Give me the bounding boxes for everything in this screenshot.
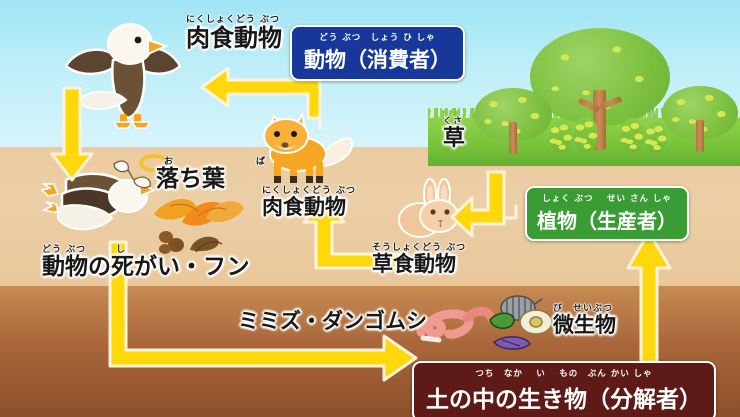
badge-plant-producer: しょく ぶつ せい さん しゃ 植物（生産者） (525, 186, 689, 241)
ecosystem-cycle-diagram: にくしょくどう ぶつ 肉食動物 お ば 落ち葉 どう ぶつ し 動物の死がい・フ… (0, 0, 740, 417)
label-herbivore-text: 草食動物 (372, 252, 456, 276)
label-herbivore: そうしょくどう ぶつ 草食動物 (372, 244, 466, 275)
label-grass-text: 草 (443, 126, 465, 151)
label-soil-creatures: ミミズ・ダンゴムシ (238, 311, 427, 332)
tree-left-small (474, 88, 552, 152)
badge-animal-consumer: どう ぶつ しょう ひ しゃ 動物（消費者） (290, 25, 465, 81)
label-microbes: び せいぶつ 微生物 (553, 305, 616, 336)
label-carnivore-top: にくしょくどう ぶつ 肉食動物 (186, 16, 282, 50)
arrow-eagle-to-carcass (52, 88, 96, 184)
shrub-c (620, 118, 644, 154)
arrow-grass-to-rabbit (452, 172, 524, 242)
arrow-soil-to-plants (624, 228, 674, 364)
badge-animal-consumer-text: 動物（消費者） (304, 48, 451, 72)
label-carnivore-mid-text: 肉食動物 (262, 195, 346, 219)
label-soil-creatures-text: ミミズ・ダンゴムシ (238, 309, 427, 333)
label-fallen-leaves-text: 落ち葉 (156, 166, 225, 192)
badge-soil-decomposer: つち なか い もの ぶん かい しゃ 土の中の生き物（分解者） (412, 361, 716, 417)
badge-plant-producer-text: 植物（生産者） (537, 209, 677, 233)
label-microbes-text: 微生物 (553, 313, 616, 337)
label-carnivore-mid: にくしょくどう ぶつ 肉食動物 (262, 187, 356, 218)
earthworm-illustration (415, 296, 495, 348)
label-carcass-dung-text: 動物の死がい・フン (42, 254, 249, 280)
label-grass: くさ 草 (443, 118, 465, 150)
shrub-a (549, 120, 573, 154)
tree-right-small (662, 86, 738, 152)
shrub-d (645, 122, 667, 154)
badge-animal-consumer-ruby: どう ぶつ しょう ひ しゃ (304, 31, 451, 43)
label-carnivore-top-text: 肉食動物 (186, 24, 282, 52)
badge-soil-decomposer-ruby: つち なか い もの ぶん かい しゃ (426, 367, 702, 379)
label-carcass-dung: どう ぶつ し 動物の死がい・フン (42, 246, 249, 279)
label-fallen-leaves: お ば 落ち葉 (156, 158, 279, 191)
badge-soil-decomposer-text: 土の中の生き物（分解者） (426, 387, 702, 413)
shrub-b (574, 116, 598, 154)
badge-plant-producer-ruby: しょく ぶつ せい さん しゃ (537, 192, 677, 204)
